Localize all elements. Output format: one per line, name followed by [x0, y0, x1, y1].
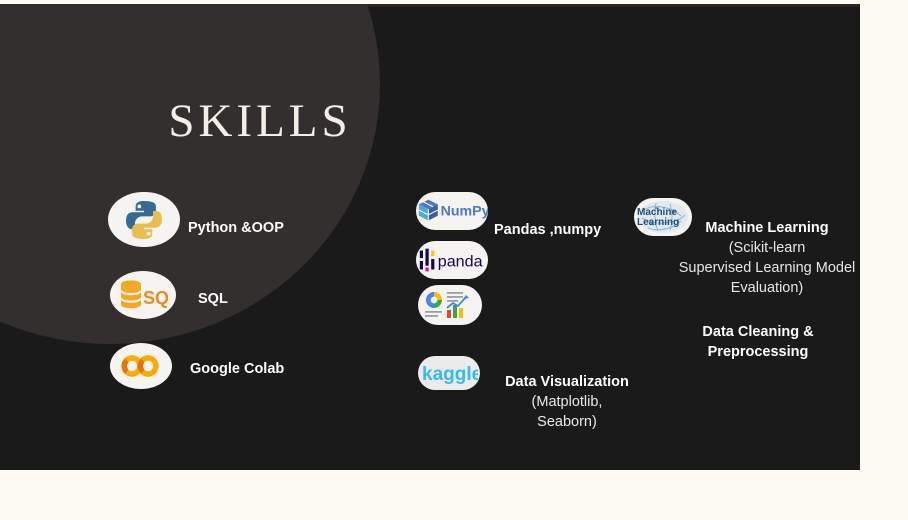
skills-column-left: Python &OOP SQL SQL: [108, 192, 388, 389]
python-logo-svg: [120, 196, 168, 244]
ml-sub-3: Evaluation): [662, 278, 860, 298]
skill-item-sql[interactable]: SQL SQL: [110, 271, 388, 319]
data-visualization-svg: [421, 288, 479, 322]
pandas-logo-icon: panda: [416, 241, 488, 279]
pandas-logo-svg: panda: [416, 245, 488, 275]
skill-item-pandas[interactable]: panda: [416, 236, 488, 279]
ml-sub-1: (Scikit-learn: [662, 238, 860, 258]
ml-sub-2: Supervised Learning Model: [662, 258, 860, 278]
kaggle-logo-svg: kaggle: [420, 361, 478, 385]
dataviz-sub-1: (Matplotlib,: [492, 392, 642, 412]
skill-label-sql: SQL: [198, 289, 228, 309]
svg-text:SQL: SQL: [143, 288, 168, 308]
kaggle-logo-icon: kaggle: [418, 356, 480, 390]
dataviz-sub-2: Seaborn): [492, 412, 642, 432]
presentation-slide: SKILLS Python &OOP: [0, 4, 860, 470]
skill-item-kaggle[interactable]: kaggle Kaggle: [418, 356, 480, 390]
skill-label-python: Python &OOP: [188, 218, 284, 238]
data-visualization-icon: [418, 285, 482, 325]
google-colab-icon: [110, 343, 172, 389]
numpy-logo-icon: NumPy: [416, 192, 488, 230]
google-colab-svg: [119, 353, 163, 379]
cleaning-line-1: Data Cleaning &: [668, 322, 848, 342]
ml-title: Machine Learning: [662, 218, 860, 238]
sql-database-svg: SQL: [118, 278, 168, 312]
skill-item-google-colab[interactable]: Google Colab: [110, 343, 388, 389]
kaggle-wordmark: kaggle: [422, 364, 478, 385]
skill-label-machine-learning: Machine Learning (Scikit-learn Supervise…: [662, 218, 860, 298]
skill-item-numpy[interactable]: NumPy Pandas ,numpy: [416, 192, 488, 230]
skill-item-data-visualization[interactable]: Data Visualization (Matplotlib, Seaborn): [418, 280, 482, 325]
cleaning-line-2: Preprocessing: [668, 342, 848, 362]
pandas-wordmark: panda: [438, 253, 483, 271]
dataviz-title: Data Visualization: [505, 374, 629, 390]
skill-label-google-colab: Google Colab: [190, 359, 284, 379]
skill-label-pandas-numpy: Pandas ,numpy: [494, 220, 634, 240]
numpy-wordmark: NumPy: [441, 204, 488, 220]
python-logo-icon: [108, 192, 180, 247]
numpy-logo-svg: NumPy: [416, 196, 488, 226]
skill-item-python[interactable]: Python &OOP: [108, 192, 388, 247]
slide-page: SKILLS Python &OOP: [0, 0, 908, 520]
skill-label-data-visualization: Data Visualization (Matplotlib, Seaborn): [492, 372, 642, 432]
sql-database-icon: SQL: [110, 271, 176, 319]
skill-label-data-cleaning: Data Cleaning & Preprocessing: [668, 322, 848, 362]
page-title: SKILLS: [150, 98, 370, 145]
